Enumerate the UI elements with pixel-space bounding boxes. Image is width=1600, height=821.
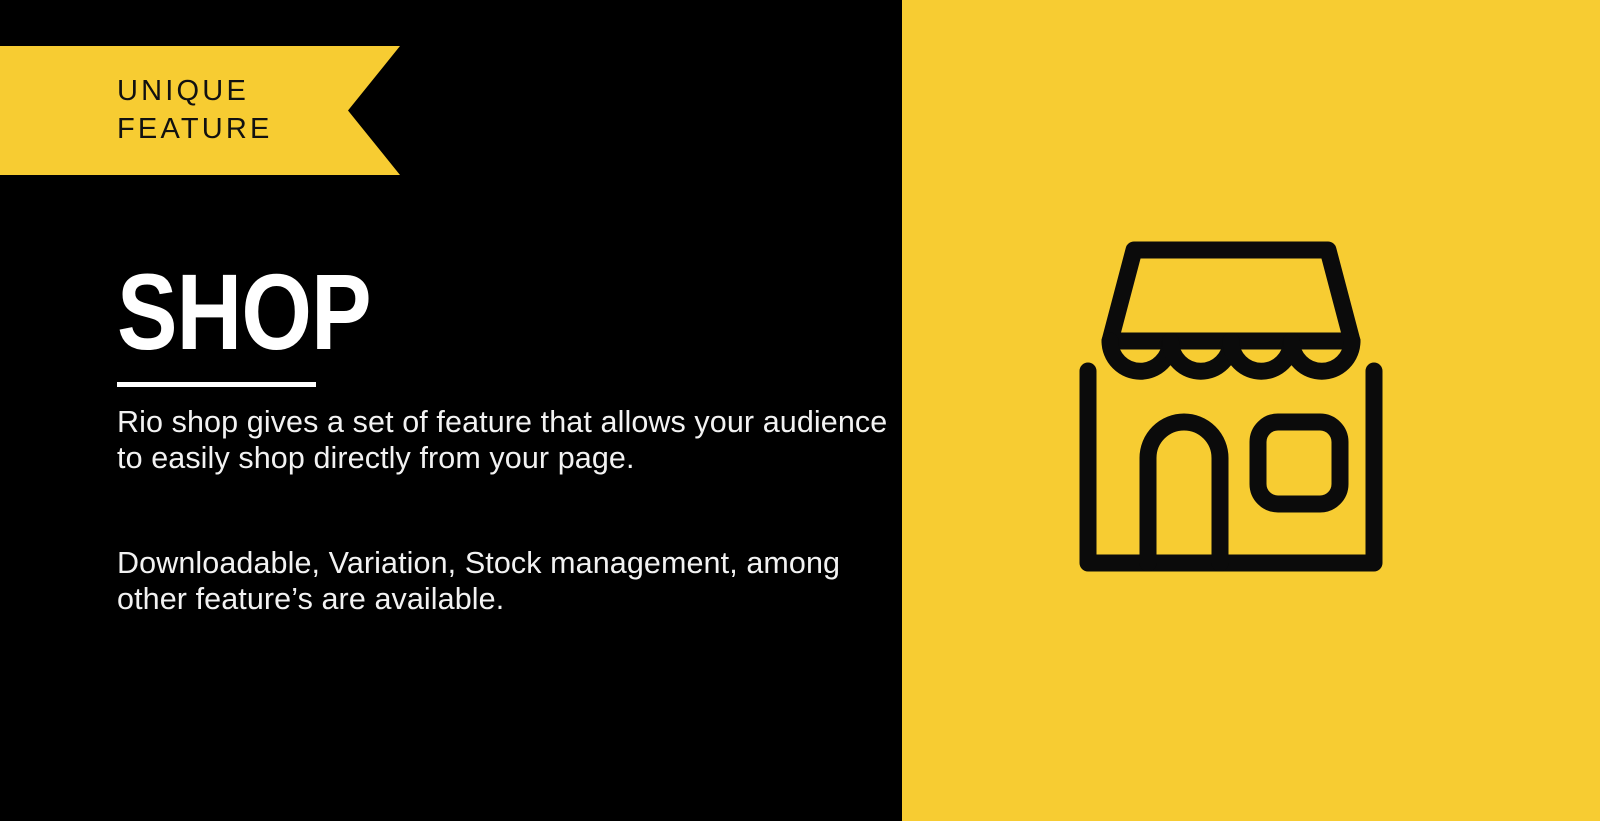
description-text-1: Rio shop gives a set of feature that all… — [117, 405, 897, 477]
description-paragraph-1: Rio shop gives a set of feature that all… — [117, 405, 897, 477]
storefront-body — [1088, 371, 1374, 563]
roof-shape — [1110, 250, 1352, 341]
description-paragraph-2: Downloadable, Variation, Stock managemen… — [117, 546, 897, 618]
storefront-icon — [1036, 228, 1426, 578]
unique-feature-ribbon: UNIQUE FEATURE — [0, 46, 400, 175]
description-text-2: Downloadable, Variation, Stock managemen… — [117, 546, 897, 618]
arched-door — [1148, 422, 1220, 563]
square-window — [1258, 422, 1340, 504]
headline-block: SHOP — [117, 258, 817, 387]
headline-underline-rule — [117, 382, 316, 387]
storefront-icon-svg — [1036, 228, 1426, 578]
page-title: SHOP — [117, 258, 705, 366]
slide-canvas: UNIQUE FEATURE SHOP Rio shop gives a set… — [0, 0, 1600, 821]
